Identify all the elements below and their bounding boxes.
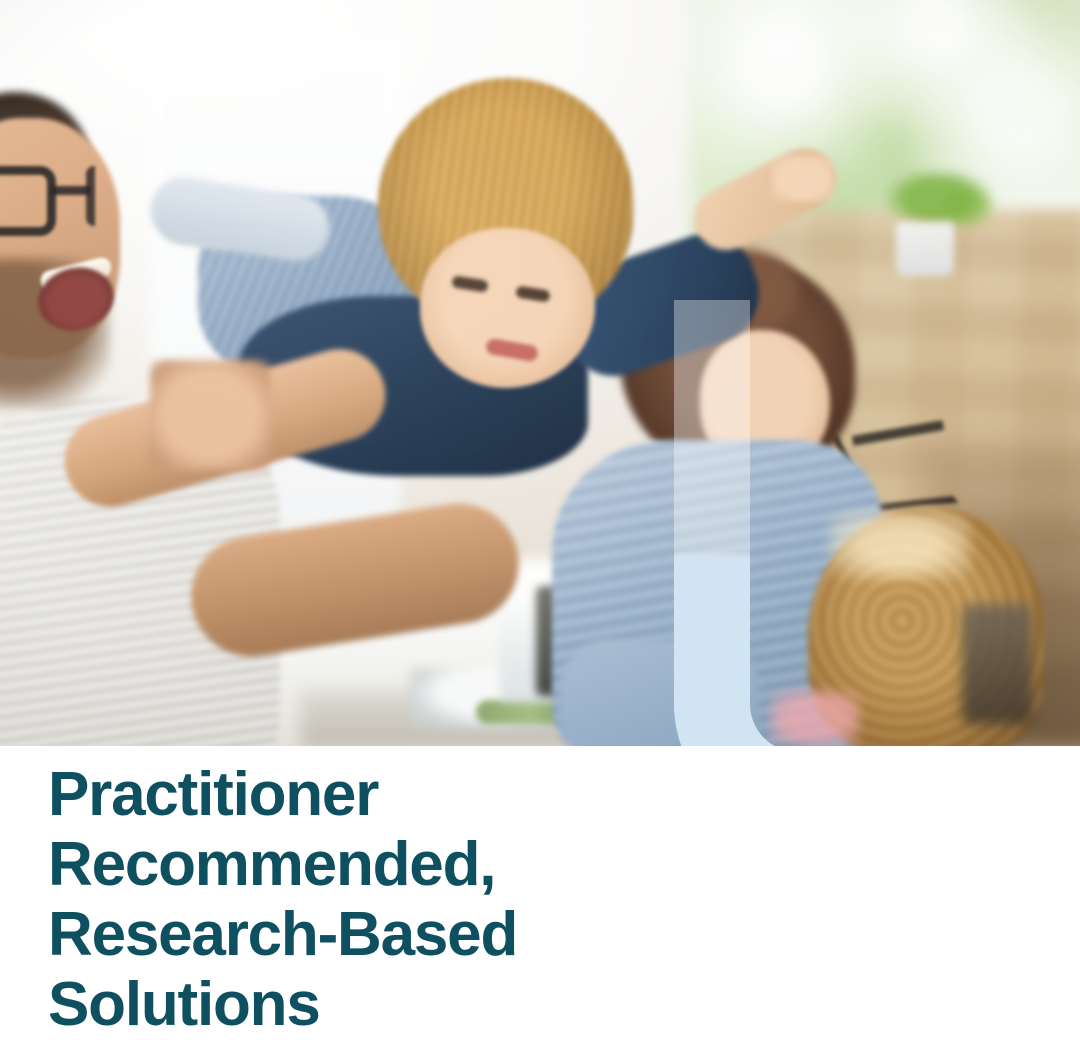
promo-card: Practitioner Recommended, Research-Based… — [0, 0, 1080, 1061]
hero-photo — [0, 0, 1080, 746]
headline-panel: Practitioner Recommended, Research-Based… — [0, 746, 1080, 1061]
page-title: Practitioner Recommended, Research-Based… — [48, 760, 668, 1040]
photo-vignette — [0, 0, 1080, 746]
